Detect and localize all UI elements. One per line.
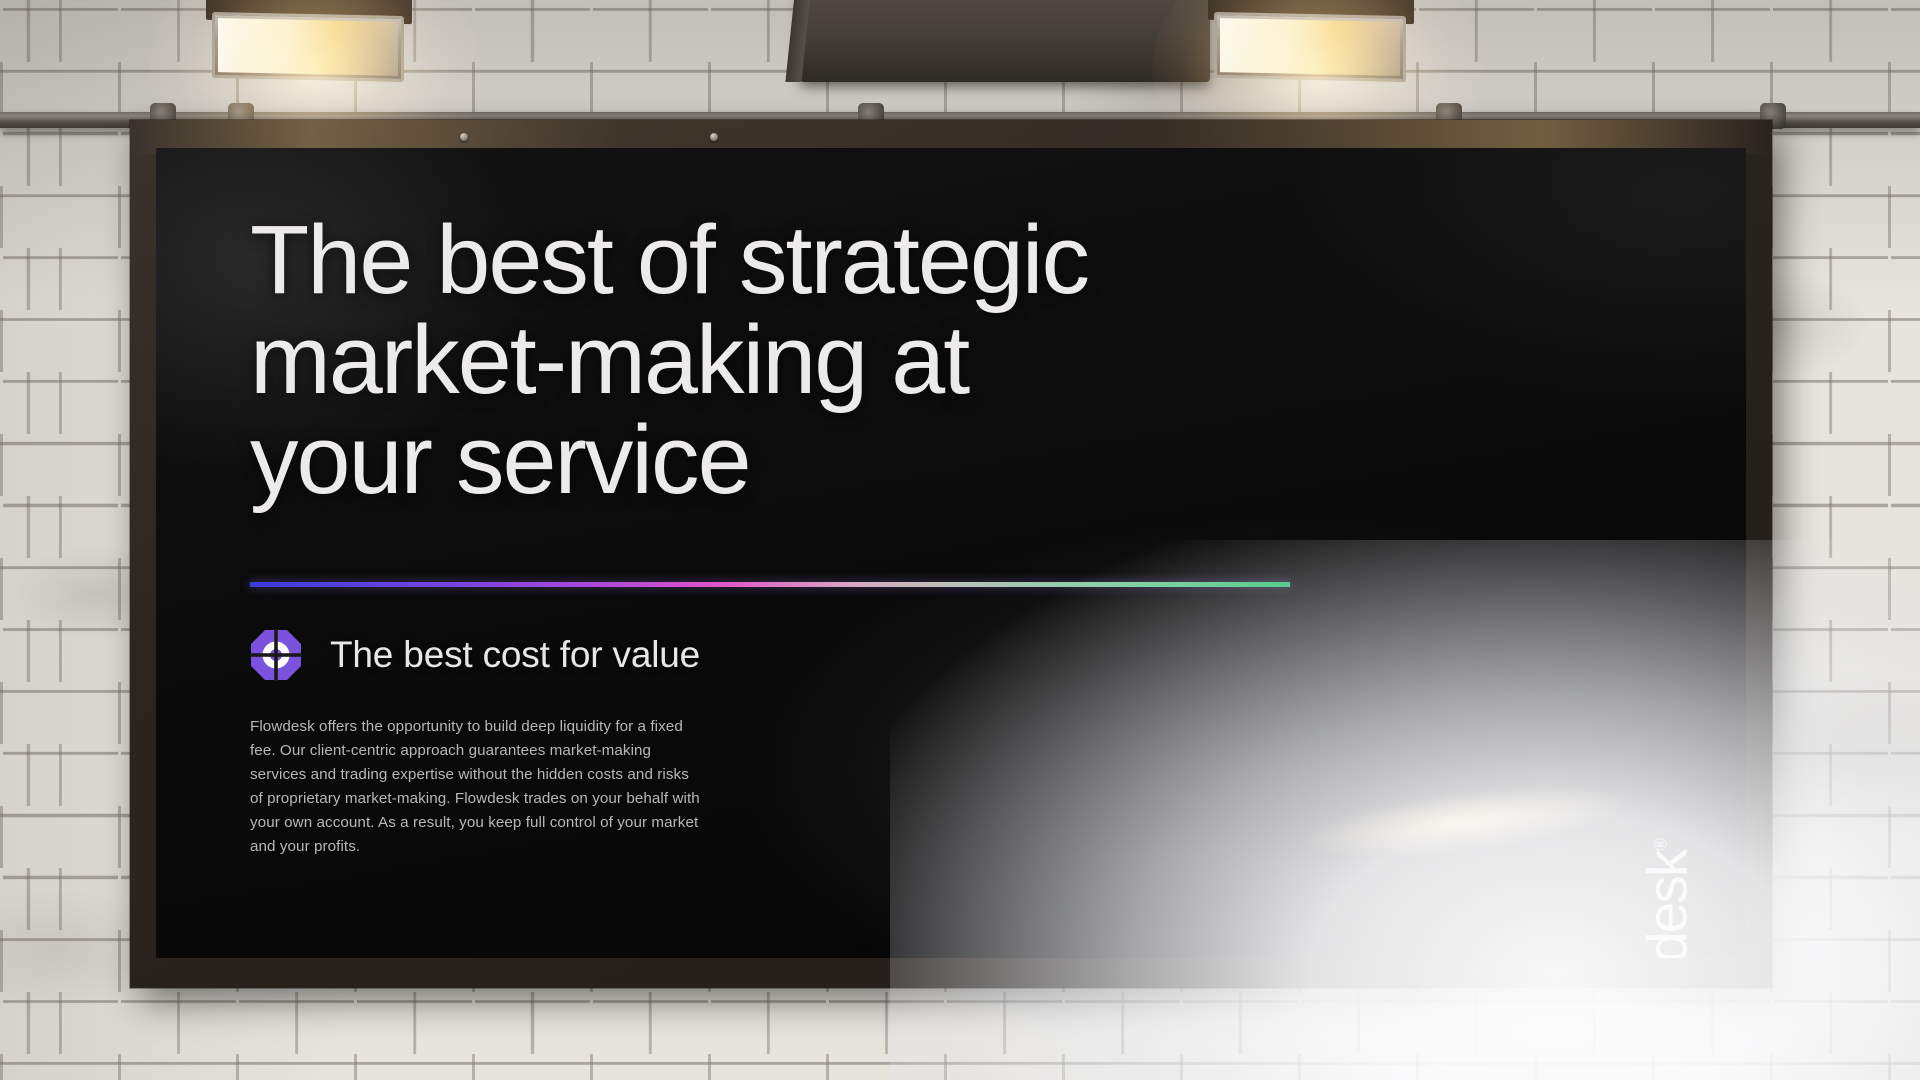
subheading: The best cost for value	[330, 634, 700, 676]
headline-line-3: your service	[250, 410, 1430, 510]
billboard-scene: The best of strategic market-making at y…	[0, 0, 1920, 1080]
floodlight-right-housing	[1214, 12, 1406, 82]
logotype-text: Flowdesk	[1635, 851, 1699, 958]
gradient-divider	[250, 582, 1290, 587]
poster-content: The best of strategic market-making at y…	[250, 210, 1430, 859]
floodlight-left-housing	[212, 12, 404, 82]
flowdesk-target-octagon-icon	[250, 629, 302, 681]
wall-mounted-dark-panel	[800, 0, 1210, 82]
page-title: The best of strategic market-making at y…	[250, 210, 1430, 510]
headline-line-1: The best of strategic	[250, 210, 1430, 310]
body-paragraph: Flowdesk offers the opportunity to build…	[250, 715, 702, 859]
frame-screw	[710, 133, 718, 141]
logotype-registered-mark: ®	[1651, 838, 1670, 851]
frame-screw	[460, 133, 468, 141]
billboard-frame: The best of strategic market-making at y…	[130, 120, 1772, 988]
floodlight-right-lens	[1220, 18, 1400, 76]
poster-surface: The best of strategic market-making at y…	[156, 148, 1746, 958]
floodlight-left	[212, 14, 404, 80]
floodlight-left-lens	[218, 18, 398, 76]
headline-line-2: market-making at	[250, 310, 1430, 410]
floodlight-right	[1214, 14, 1406, 80]
subheading-row: The best cost for value	[250, 629, 1430, 681]
flowdesk-logotype: Flowdesk®	[1634, 838, 1700, 958]
